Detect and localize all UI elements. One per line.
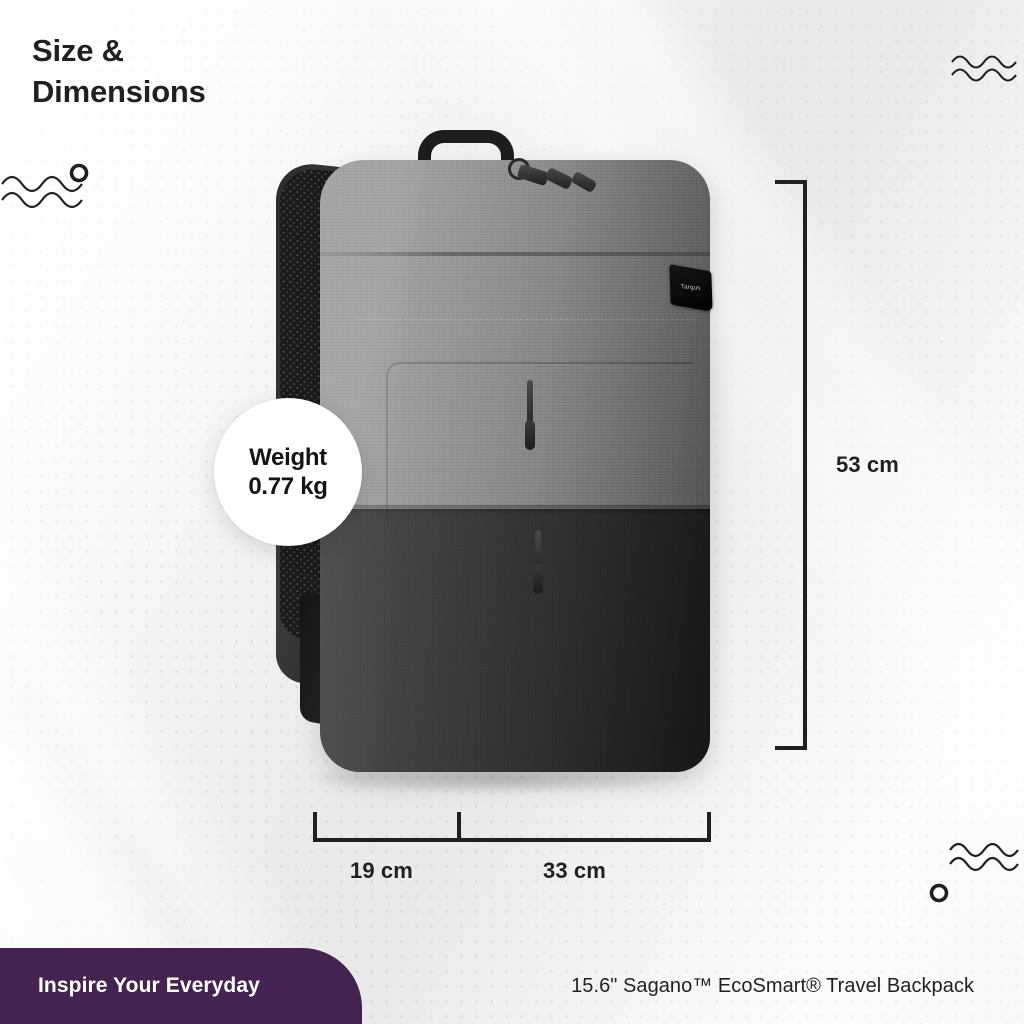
backpack-body [320, 160, 710, 772]
footer-tagline: Inspire Your Everyday [38, 974, 260, 998]
width-bracket-tick-left [313, 812, 317, 842]
weight-badge-value: 0.77 kg [248, 472, 327, 501]
height-dimension-label: 53 cm [836, 452, 899, 478]
depth-dimension-label: 19 cm [350, 858, 413, 884]
height-bracket-tick-top [775, 180, 807, 184]
width-bracket-bar [313, 838, 711, 842]
width-dimension-label: 33 cm [543, 858, 606, 884]
backpack-lighting-overlay [320, 160, 710, 772]
infographic-canvas: Size & Dimensions Targus Weig [0, 0, 1024, 1024]
weight-badge-label: Weight [249, 443, 327, 472]
height-bracket-bar [803, 180, 807, 750]
width-bracket-tick-right [707, 812, 711, 842]
brand-tag-label: Targus [681, 284, 701, 292]
weight-badge: Weight 0.77 kg [214, 398, 362, 546]
footer-tagline-banner: Inspire Your Everyday [0, 948, 362, 1024]
width-bracket-tick-middle [457, 812, 461, 842]
page-title: Size & Dimensions [32, 30, 206, 112]
footer-product-name: 15.6" Sagano™ EcoSmart® Travel Backpack [571, 975, 974, 998]
height-bracket-tick-bottom [775, 746, 807, 750]
brand-tag: Targus [669, 264, 712, 312]
